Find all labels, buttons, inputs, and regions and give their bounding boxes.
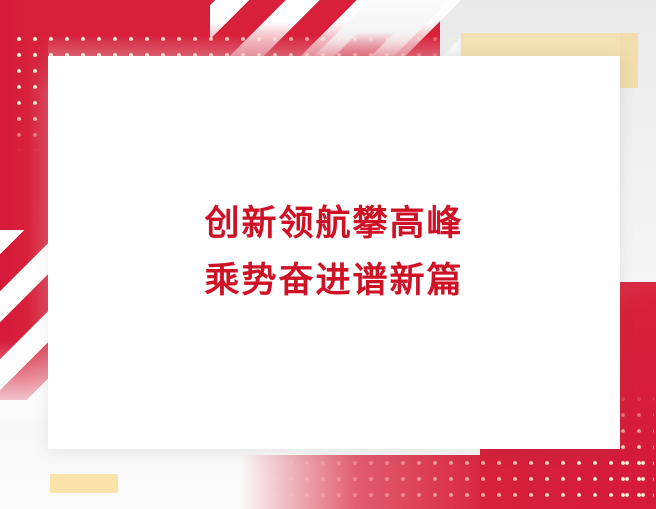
left-band-fade (0, 340, 48, 420)
cream-accent-tab (50, 474, 118, 493)
cream-bracket-vertical (620, 33, 638, 88)
card-body: 创新领航攀高峰 乘势奋进谱新篇 (48, 56, 620, 449)
slide-title-line-2: 乘势奋进谱新篇 (204, 253, 463, 310)
dot-grid-bottom (248, 452, 652, 508)
presentation-slide: 创新领航攀高峰 乘势奋进谱新篇 (0, 0, 656, 509)
dot-grid-left (8, 28, 50, 152)
cream-bracket-horizontal (461, 33, 638, 57)
slide-title-line-1: 创新领航攀高峰 (204, 196, 463, 253)
content-card: 创新领航攀高峰 乘势奋进谱新篇 (48, 56, 620, 449)
